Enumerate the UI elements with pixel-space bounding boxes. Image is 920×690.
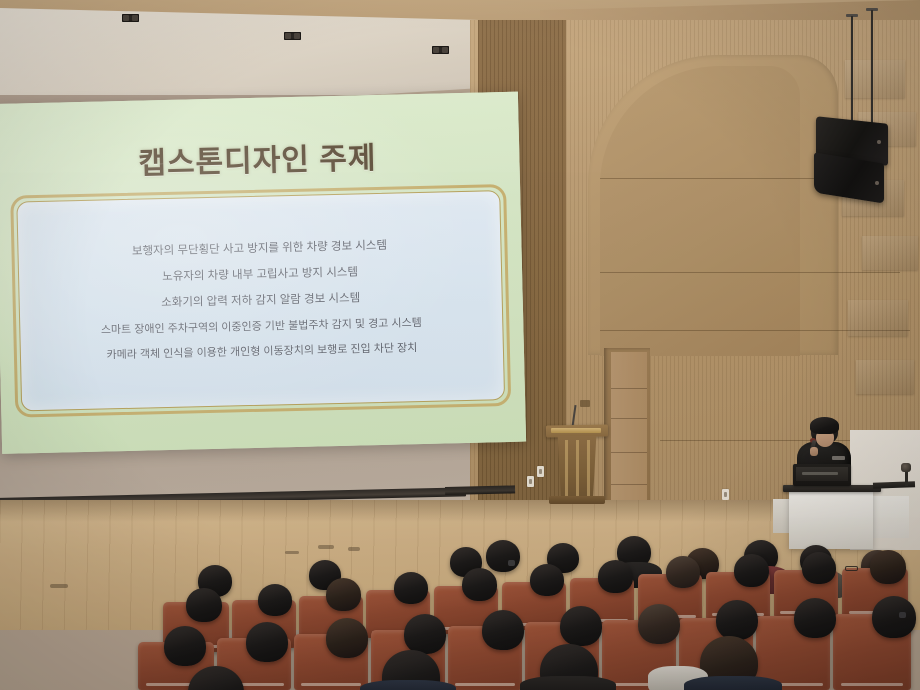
audience-head — [716, 600, 758, 640]
downlight-icon — [122, 14, 139, 22]
audience-head — [870, 550, 906, 584]
podium-side-cabinet — [869, 496, 909, 538]
door-panel-line — [611, 388, 647, 389]
lectern-name-plate — [551, 428, 601, 433]
floor-marking — [318, 545, 334, 549]
lectern-base — [549, 496, 605, 504]
lectern-stripe — [587, 440, 590, 498]
lectern-stripe — [576, 440, 579, 498]
wall-relief-block — [862, 236, 918, 270]
hair-clip-icon — [899, 612, 906, 618]
downlight-icon — [432, 46, 449, 54]
hair-clip-icon — [508, 560, 515, 566]
jacket-logo — [832, 456, 845, 460]
audience-head — [734, 554, 769, 587]
audience-head — [530, 564, 564, 596]
floor-marking — [348, 547, 360, 551]
floor-marking — [285, 551, 299, 554]
audience-head — [404, 614, 446, 654]
door-panel-line — [611, 418, 647, 419]
audience-shoulders — [520, 676, 616, 690]
podium-desktop — [783, 485, 881, 492]
wall-emblem-icon — [580, 400, 590, 407]
audience-head — [326, 618, 368, 658]
slide-content-panel: 보행자의 무단횡단 사고 방지를 위한 차량 경보 시스템 노유자의 차량 내부… — [16, 190, 505, 411]
audience-head — [258, 584, 292, 616]
audience-head — [186, 588, 222, 622]
audience-head — [462, 568, 497, 601]
audience-head — [482, 610, 524, 650]
lectern-stripe — [565, 440, 568, 498]
wall-outlet-icon — [722, 489, 729, 500]
door-panel-line — [611, 484, 647, 485]
speaker-led-icon — [877, 140, 881, 144]
audience-head — [794, 598, 836, 638]
downlight-icon — [284, 32, 301, 40]
eyeglasses-icon — [845, 566, 858, 571]
wall-relief-block — [856, 360, 914, 394]
presenter-hand — [810, 447, 818, 456]
audience-head — [326, 578, 361, 611]
wall-relief-block — [845, 60, 905, 98]
podium-monitor-text — [802, 472, 838, 475]
podium-mic-head-icon — [901, 463, 911, 472]
panel-seam — [600, 272, 900, 273]
audience-head — [802, 552, 836, 584]
presenter-hair — [810, 417, 839, 434]
audience-head — [598, 560, 633, 593]
screen-bottom-rail — [445, 485, 515, 495]
speaker-led-icon — [875, 181, 879, 185]
audience-shoulders — [684, 676, 782, 690]
wall-outlet-icon — [537, 466, 544, 477]
wall-outlet-icon — [527, 476, 534, 487]
door-panel-line — [611, 452, 647, 453]
audience-head — [486, 540, 520, 572]
speaker-hanging-rod — [871, 10, 873, 128]
audience-head — [164, 626, 206, 666]
audience-head — [560, 606, 602, 646]
slide-topic-list: 보행자의 무단횡단 사고 방지를 위한 차량 경보 시스템 노유자의 차량 내부… — [17, 191, 504, 410]
projection-screen: 캡스톤디자인 주제 보행자의 무단횡단 사고 방지를 위한 차량 경보 시스템 … — [0, 92, 526, 454]
audience-head — [246, 622, 288, 662]
podium-front — [789, 489, 873, 549]
podium-mic-stand — [905, 470, 908, 486]
auditorium-photo: 캡스톤디자인 주제 보행자의 무단횡단 사고 방지를 위한 차량 경보 시스템 … — [0, 0, 920, 690]
speaker-hanging-rod — [851, 16, 853, 128]
audience-shoulders — [360, 680, 456, 690]
floor-marking — [50, 584, 68, 588]
arch-feature-panel-inner — [600, 66, 800, 356]
audience-head — [872, 596, 916, 638]
wall-relief-block — [848, 300, 908, 336]
audience-head — [666, 556, 700, 588]
audience-head — [638, 604, 680, 644]
audience-head — [394, 572, 428, 604]
